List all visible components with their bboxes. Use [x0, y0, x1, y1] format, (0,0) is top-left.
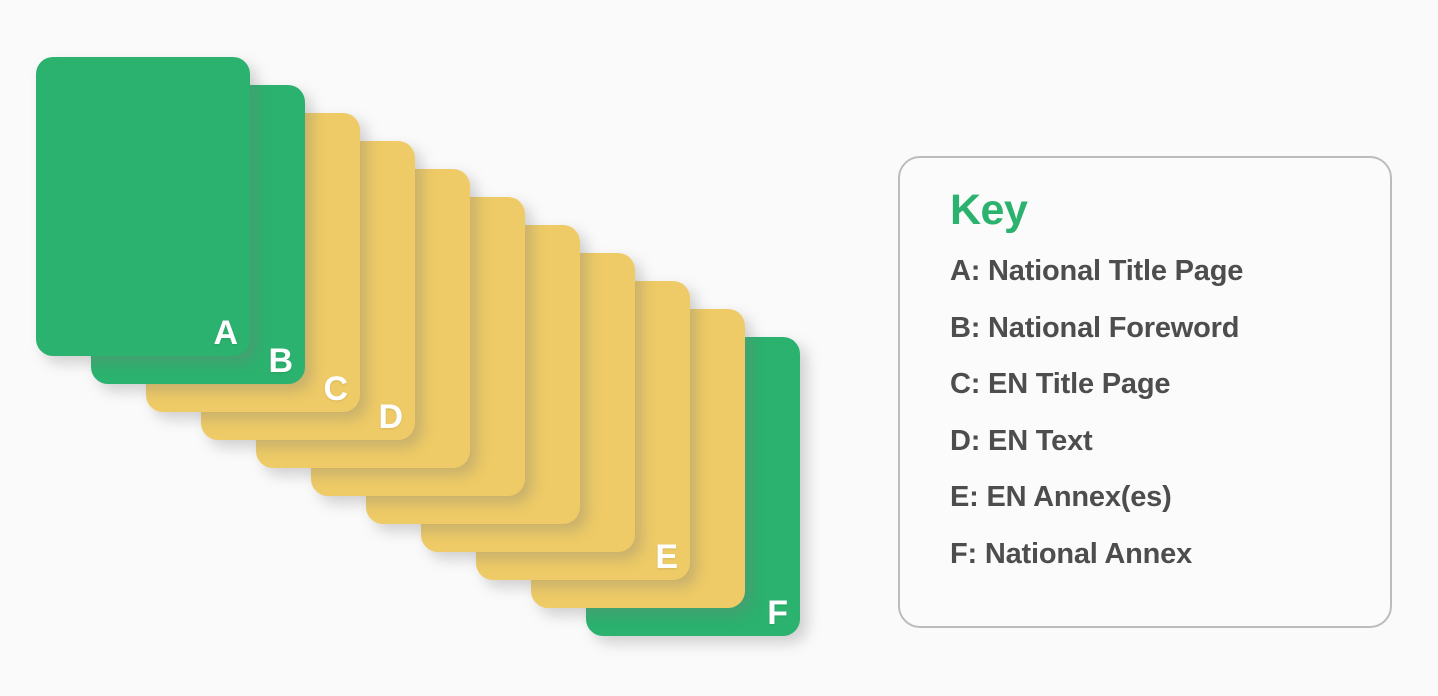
key-item-d: D: EN Text: [950, 413, 1390, 470]
key-item-a: A: National Title Page: [950, 243, 1390, 300]
key-legend-panel: Key A: National Title PageB: National Fo…: [898, 156, 1392, 628]
key-item-b: B: National Foreword: [950, 300, 1390, 357]
card-label-c: C: [323, 372, 348, 406]
card-label-f: F: [767, 596, 788, 630]
document-section-card-stack: ABCDEF: [0, 0, 860, 696]
card-label-d: D: [378, 400, 403, 434]
key-legend-list: A: National Title PageB: National Forewo…: [950, 243, 1390, 582]
card-label-a: A: [213, 316, 238, 350]
diagram-canvas: ABCDEF Key A: National Title PageB: Nati…: [0, 0, 1438, 696]
key-panel-title: Key: [950, 188, 1390, 233]
key-item-f: F: National Annex: [950, 526, 1390, 583]
key-item-c: C: EN Title Page: [950, 356, 1390, 413]
key-item-e: E: EN Annex(es): [950, 469, 1390, 526]
card-label-b: B: [268, 344, 293, 378]
card-label-e: E: [655, 540, 678, 574]
document-card-a[interactable]: A: [36, 57, 250, 356]
